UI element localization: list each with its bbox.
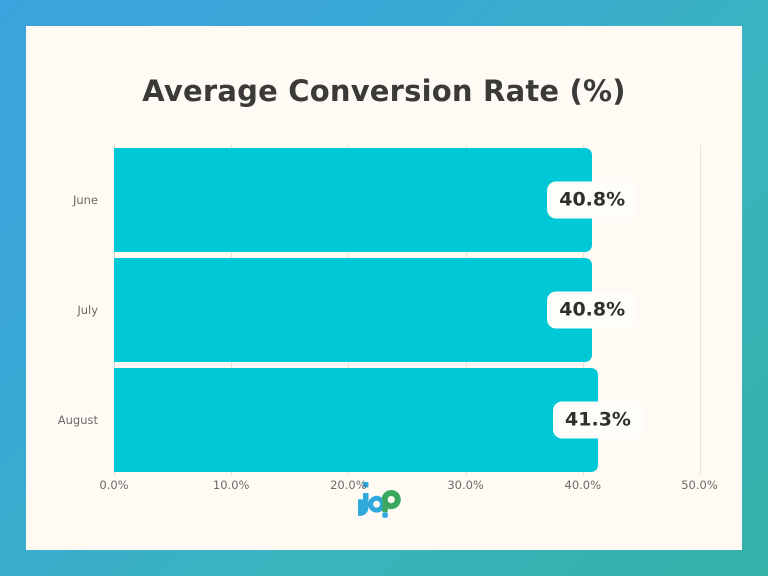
x-tick-0: 0.0% [99,478,128,492]
bar-august[interactable] [114,368,598,472]
plot-area: June 40.8% July 40.8% August 41.3% [114,145,700,475]
bar-july[interactable] [114,258,592,362]
category-label-june: June [73,193,98,207]
category-label-august: August [58,413,98,427]
x-tick-30: 30.0% [447,478,484,492]
bar-row-july: July 40.8% [114,255,700,365]
slide-frame: Average Conversion Rate (%) June 40.8% J… [0,0,768,576]
bar-june[interactable] [114,148,592,252]
bar-row-june: June 40.8% [114,145,700,255]
page-title: Average Conversion Rate (%) [26,74,742,108]
value-label-june: 40.8% [547,182,637,219]
category-label-july: July [77,303,98,317]
value-label-august: 41.3% [553,402,643,439]
chart-panel: Average Conversion Rate (%) June 40.8% J… [26,26,742,550]
x-tick-20: 20.0% [330,478,367,492]
x-tick-50: 50.0% [681,478,718,492]
x-tick-10: 10.0% [213,478,250,492]
bar-row-august: August 41.3% [114,365,700,475]
x-tick-40: 40.0% [565,478,602,492]
value-label-july: 40.8% [547,292,637,329]
x-axis: 0.0% 10.0% 20.0% 30.0% 40.0% 50.0% [114,478,700,498]
bar-series: June 40.8% July 40.8% August 41.3% [114,145,700,475]
